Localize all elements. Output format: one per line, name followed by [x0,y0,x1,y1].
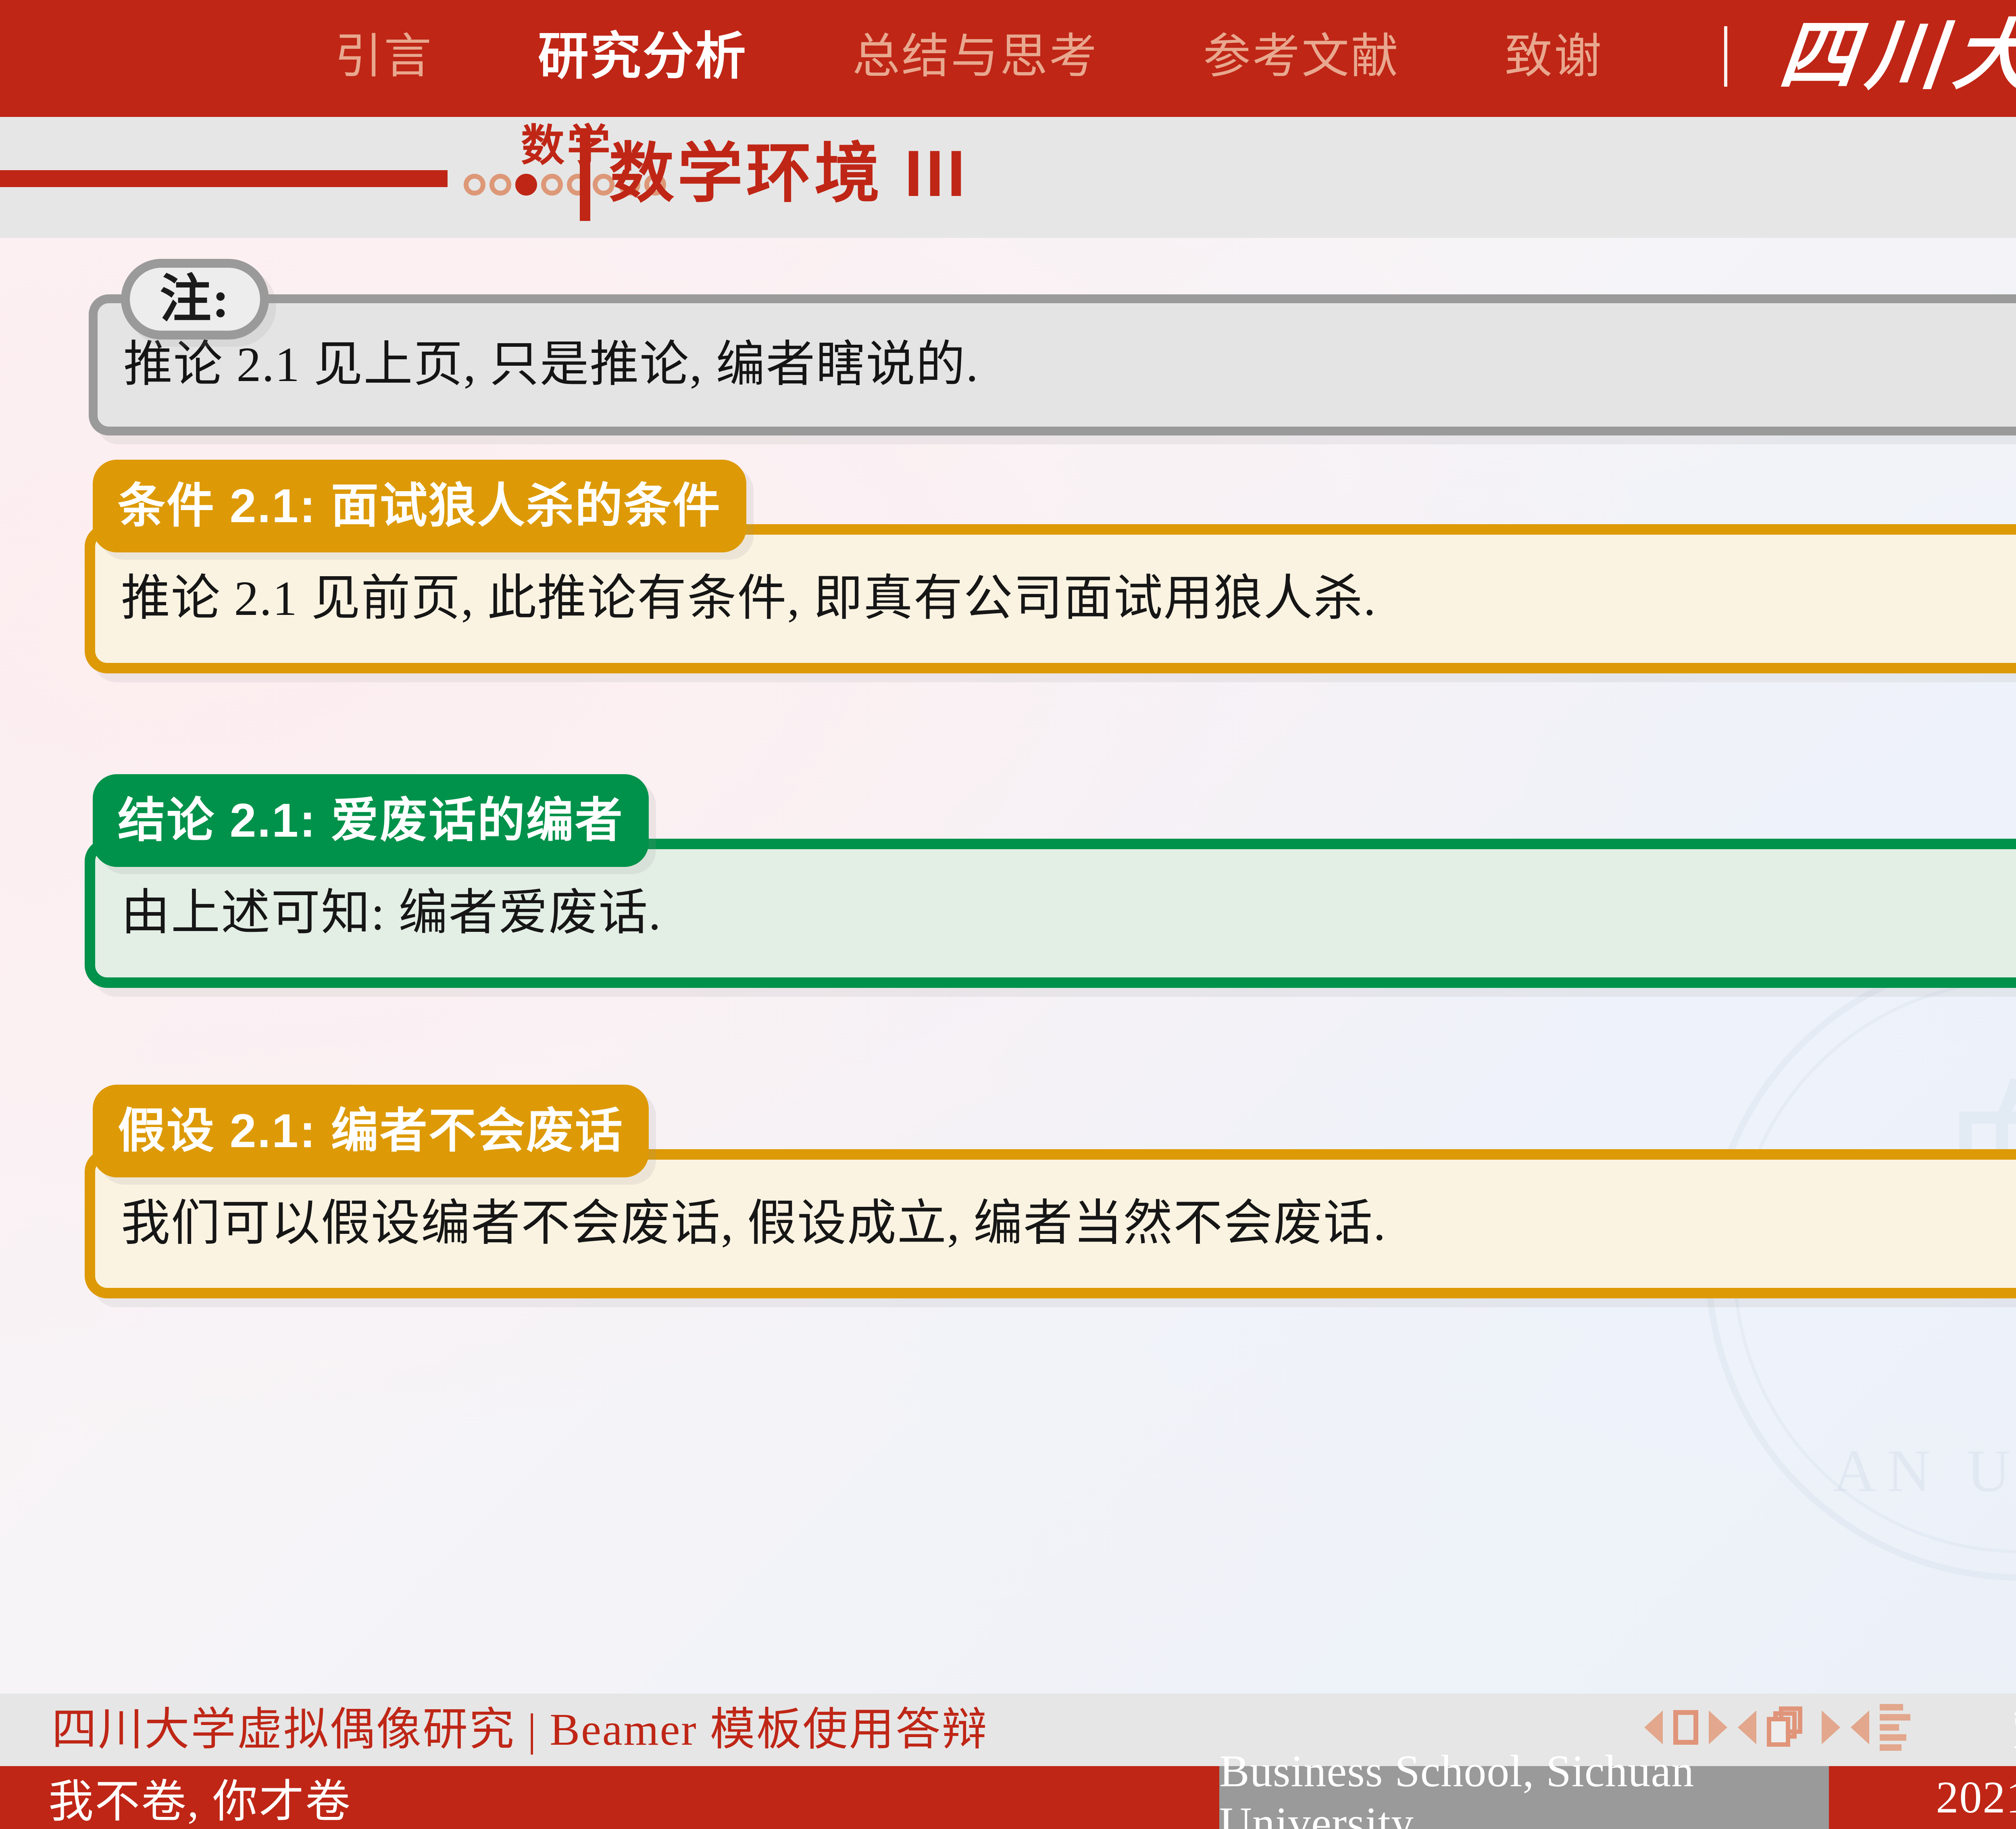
status-slogan: 我不卷, 你才卷 [0,1766,1219,1829]
progress-dot [541,174,563,196]
progress-dot-active [515,174,537,196]
condition-block-header: 条件 2.1: 面试狼人杀的条件 [93,460,746,552]
footer-separator: | [527,1705,537,1755]
condition-block-body-text: 推论 2.1 见前页, 此推论有条件, 即真有公司面试用狼人杀. [95,569,1377,628]
footer-talk-title: Beamer 模板使用答辩 [550,1705,988,1755]
next-slide-icon[interactable] [1709,1710,1727,1744]
progress-dot [464,174,485,196]
assumption-block-header-text: 假设 2.1: 编者不会废话 [118,1107,624,1155]
note-block-body-text: 推论 2.1 见上页, 只是推论, 编者瞎说的. [98,335,979,394]
assumption-block-body-text: 我们可以假设编者不会废话, 假设成立, 编者当然不会废话. [95,1194,1387,1253]
nav-item-summary[interactable]: 总结与思考 [852,33,1098,80]
status-bar: 我不卷, 你才卷 Business School, Sichuan Univer… [0,1766,2016,1829]
nav-item-intro[interactable]: 引言 [335,33,433,80]
top-navigation-bar: 引言 研究分析 总结与思考 参考文献 致谢 四川大學 [0,0,2016,113]
nav-item-research-analysis[interactable]: 研究分析 [538,31,748,82]
footer-title-line: 四川大学虚拟偶像研究|Beamer 模板使用答辩 [52,1707,988,1752]
slide: 引言 研究分析 总结与思考 参考文献 致谢 四川大學 数学 [0,0,2016,1829]
prev-section-icon[interactable] [1851,1710,1869,1744]
note-block-body: 推论 2.1 见上页, 只是推论, 编者瞎说的. [89,294,2016,435]
note-block-header: 注: [121,259,269,340]
beamer-navigation-symbols[interactable] [1644,1704,1910,1751]
conclusion-block-body-text: 由上述可知: 编者爱废话. [95,884,662,943]
table-of-contents-icon[interactable] [1880,1704,1910,1751]
conclusion-block-header-text: 结论 2.1: 爱废话的编者 [118,797,624,844]
nav-item-acknowledgement[interactable]: 致谢 [1505,33,1603,80]
conclusion-block-header: 结论 2.1: 爱废话的编者 [93,774,649,867]
footer-institute: 四川大学虚拟偶像研究 [52,1705,515,1755]
prev-slide-icon[interactable] [1644,1710,1663,1744]
nav-divider [1724,26,1727,87]
next-frame-icon[interactable] [1822,1710,1840,1744]
assumption-block-header: 假设 2.1: 编者不会废话 [93,1085,649,1177]
university-logo: 四川大學 [1776,18,2016,95]
status-meta: 2021/11/31 15 / 33 [1829,1766,2016,1829]
note-block-header-text: 注: [160,273,230,325]
content-area: 推论 2.1 见上页, 只是推论, 编者瞎说的. 注: 条件 2.1: 面试狼人… [0,242,2016,1677]
section-label: 数学 [521,123,613,168]
prev-frame-icon[interactable] [1738,1710,1756,1744]
status-affiliation: Business School, Sichuan University [1219,1766,1829,1829]
nav-item-references[interactable]: 参考文献 [1203,33,1400,80]
title-band: 数学 数学环境 III [0,113,2016,238]
nav-item-list: 引言 研究分析 总结与思考 参考文献 致谢 四川大學 [335,18,2016,95]
title-accent-bar [580,128,590,221]
frames-icon[interactable] [1767,1706,1811,1748]
zhihu-watermark: 知乎 @ofuco [2014,1694,2016,1756]
status-date: 2021/11/31 [1936,1772,2016,1824]
page-title: 数学环境 III [609,130,968,218]
condition-block-header-text: 条件 2.1: 面试狼人杀的条件 [118,482,721,530]
title-rule [0,170,448,187]
slide-icon[interactable] [1673,1710,1698,1745]
progress-dot [489,174,511,196]
